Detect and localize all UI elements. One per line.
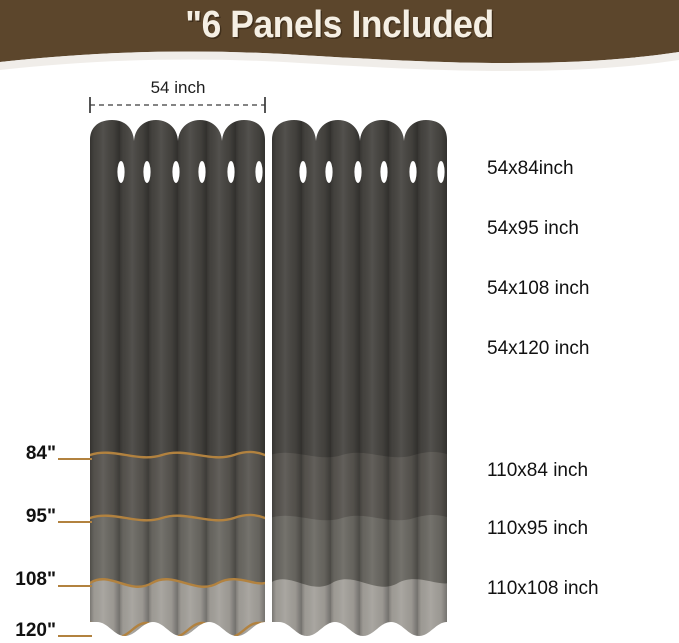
- size-item-110x95: 110x95 inch: [487, 518, 588, 540]
- height-marker-84: 84": [0, 443, 56, 465]
- infographic-canvas: "6 Panels Included 54 inch: [0, 0, 679, 643]
- marker-leader-lines: [58, 459, 92, 636]
- left-pleat-folds: [90, 118, 265, 640]
- size-item-54x84: 54x84inch: [487, 158, 574, 180]
- curtain-panel-left: [88, 118, 268, 640]
- height-marker-95: 95": [0, 506, 56, 528]
- height-marker-120: 120": [0, 620, 56, 642]
- size-item-54x108: 54x108 inch: [487, 278, 589, 300]
- curtain-panel-right: [270, 118, 450, 640]
- size-item-54x120: 54x120 inch: [487, 338, 589, 360]
- right-pleat-folds: [272, 118, 447, 640]
- size-item-54x95: 54x95 inch: [487, 218, 579, 240]
- curtains-illustration: [0, 0, 679, 643]
- size-item-110x84: 110x84 inch: [487, 460, 588, 482]
- size-item-110x108: 110x108 inch: [487, 578, 599, 600]
- height-marker-108: 108": [0, 569, 56, 591]
